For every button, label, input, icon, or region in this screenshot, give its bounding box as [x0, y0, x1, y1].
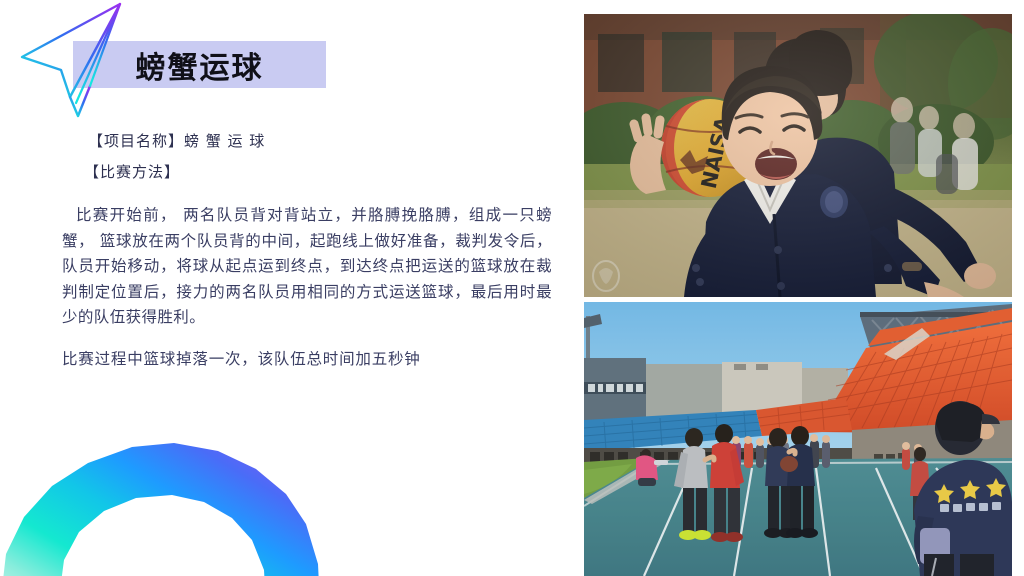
page-title: 螃蟹运球: [73, 41, 326, 88]
slide-root: 螃蟹运球 【项目名称】螃 蟹 运 球 【比赛方法】 比赛开始前， 两名队员背对背…: [0, 0, 1024, 576]
photo-stadium-track: [584, 302, 1012, 576]
photo-students-basketball: NAISA: [584, 14, 1012, 297]
gradient-arc-icon: [0, 414, 334, 576]
paragraph-penalty: 比赛过程中篮球掉落一次，该队伍总时间加五秒钟: [62, 347, 552, 373]
content-block: 【项目名称】螃 蟹 运 球 【比赛方法】 比赛开始前， 两名队员背对背站立，并胳…: [62, 126, 562, 372]
heading-project-name: 【项目名称】螃 蟹 运 球: [62, 126, 562, 156]
paragraph-rules: 比赛开始前， 两名队员背对背站立，并胳膊挽胳膊，组成一只螃蟹， 篮球放在两个队员…: [62, 203, 552, 331]
heading-competition-method: 【比赛方法】: [62, 157, 562, 187]
